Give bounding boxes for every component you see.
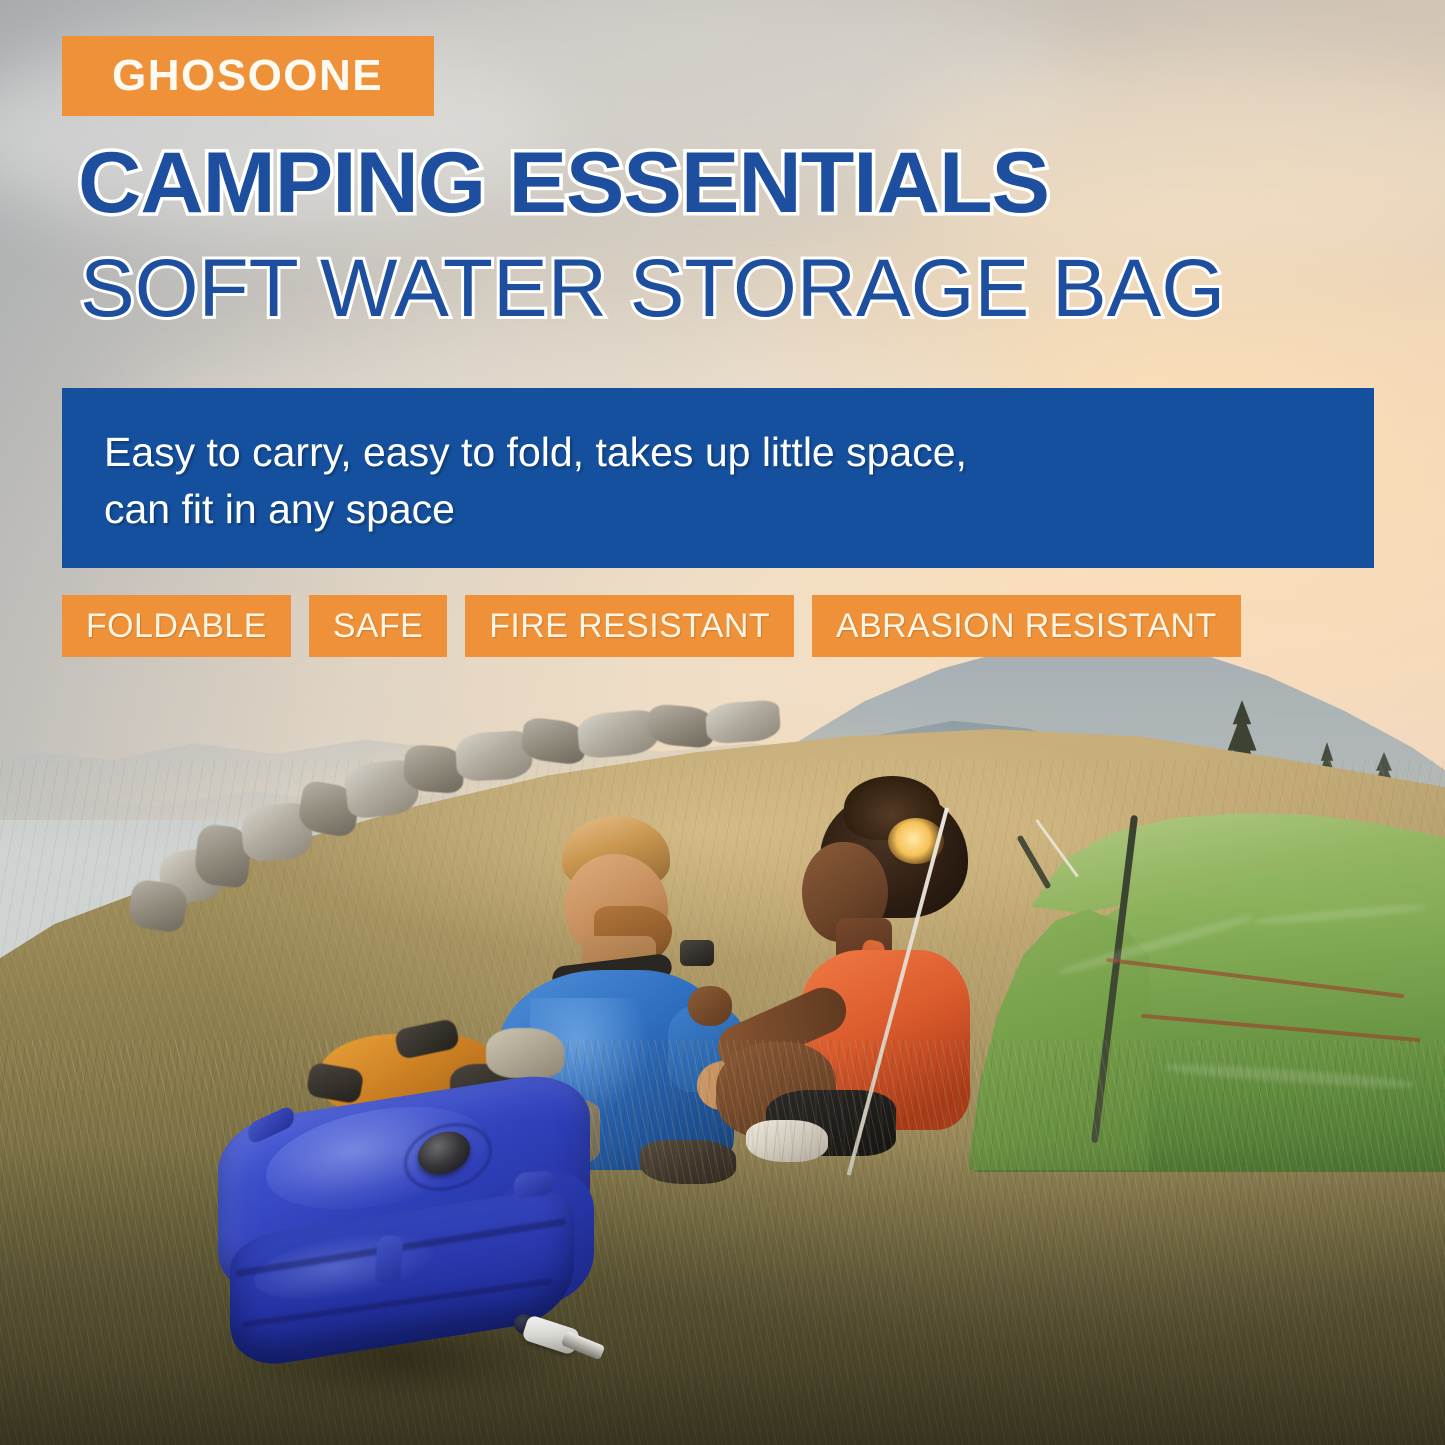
bag-handle-tab xyxy=(374,1235,403,1284)
tent-pole xyxy=(1016,835,1051,890)
water-storage-bag-product xyxy=(196,1086,626,1416)
feature-tag-abrasion-resistant: ABRASION RESISTANT xyxy=(812,595,1241,657)
feature-tag-label: ABRASION RESISTANT xyxy=(836,607,1217,646)
hiking-boot xyxy=(486,1028,564,1078)
hand xyxy=(688,986,732,1026)
headline-primary: CAMPING ESSENTIALS xyxy=(78,140,1404,226)
feature-tag-fire-resistant: FIRE RESISTANT xyxy=(465,595,794,657)
description-line-1: Easy to carry, easy to fold, takes up li… xyxy=(104,424,1332,481)
feature-tag-label: FIRE RESISTANT xyxy=(489,607,770,646)
feature-tag-label: SAFE xyxy=(333,607,423,646)
brand-badge: GHOSOONE xyxy=(62,36,434,116)
feature-tags-row: FOLDABLE SAFE FIRE RESISTANT ABRASION RE… xyxy=(62,595,1241,657)
camp-cup xyxy=(680,940,714,966)
brand-name: GHOSOONE xyxy=(62,51,383,101)
description-banner: Easy to carry, easy to fold, takes up li… xyxy=(62,388,1374,568)
description-line-2: can fit in any space xyxy=(104,481,1332,538)
headline-secondary: SOFT WATER STORAGE BAG xyxy=(80,248,1400,330)
product-marketing-poster: GHOSOONE CAMPING ESSENTIALS SOFT WATER S… xyxy=(0,0,1445,1445)
feature-tag-label: FOLDABLE xyxy=(86,607,267,646)
feature-tag-safe: SAFE xyxy=(309,595,447,657)
feature-tag-foldable: FOLDABLE xyxy=(62,595,291,657)
